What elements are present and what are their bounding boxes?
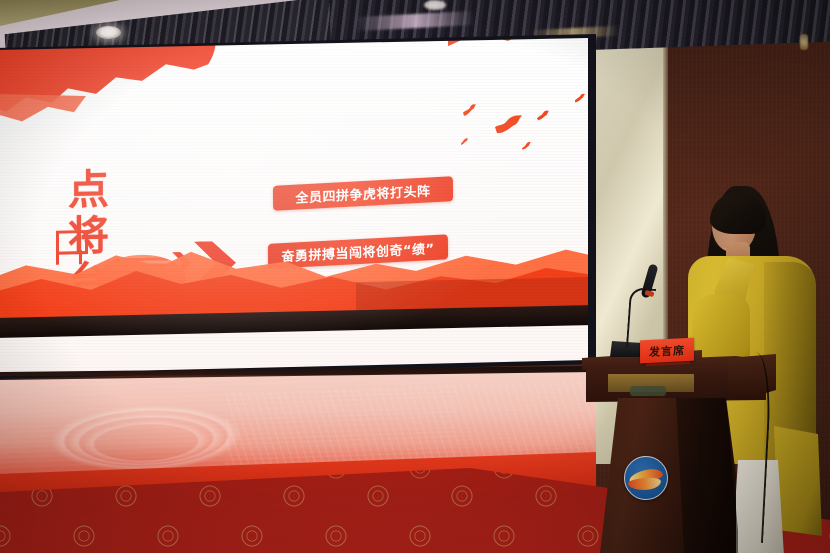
flag-pole-left-icon xyxy=(56,251,59,265)
ceiling-lamp-right-icon xyxy=(800,34,808,50)
ceiling-downlight-icon xyxy=(96,26,121,39)
podium-desk-object xyxy=(630,386,666,396)
podium-nameplate: 发言席 xyxy=(640,338,694,364)
flag-icon xyxy=(56,230,88,255)
led-screen: 点 将 台 全员四拼争虎将打头阵 奋勇拼搏当闯将创奇“绩” 多点发力做名将谋发展 xyxy=(0,38,588,374)
bird-4-icon xyxy=(574,93,586,103)
slogan-banner-2: 奋勇拼搏当闯将创奇“绩” xyxy=(268,234,448,269)
title-char-1: 点 xyxy=(68,170,109,213)
bird-2-icon xyxy=(494,114,524,135)
bird-5-icon xyxy=(460,138,469,146)
conference-hall-scene: 点 将 台 全员四拼争虎将打头阵 奋勇拼搏当闯将创奇“绩” 多点发力做名将谋发展 xyxy=(0,0,830,553)
bird-3-icon xyxy=(536,110,550,121)
led-screen-content: 点 将 台 全员四拼争虎将打头阵 奋勇拼搏当闯将创奇“绩” 多点发力做名将谋发展 xyxy=(0,38,588,374)
ceiling-downlight-secondary-icon xyxy=(424,0,446,10)
bird-6-icon xyxy=(521,141,532,150)
bird-1-icon xyxy=(462,103,478,116)
company-wave-logo xyxy=(624,456,668,500)
red-cloud-ribbon-accent xyxy=(0,90,86,127)
flag-pole-right-icon xyxy=(79,250,82,264)
slogan-banner-1: 全员四拼争虎将打头阵 xyxy=(273,176,453,211)
